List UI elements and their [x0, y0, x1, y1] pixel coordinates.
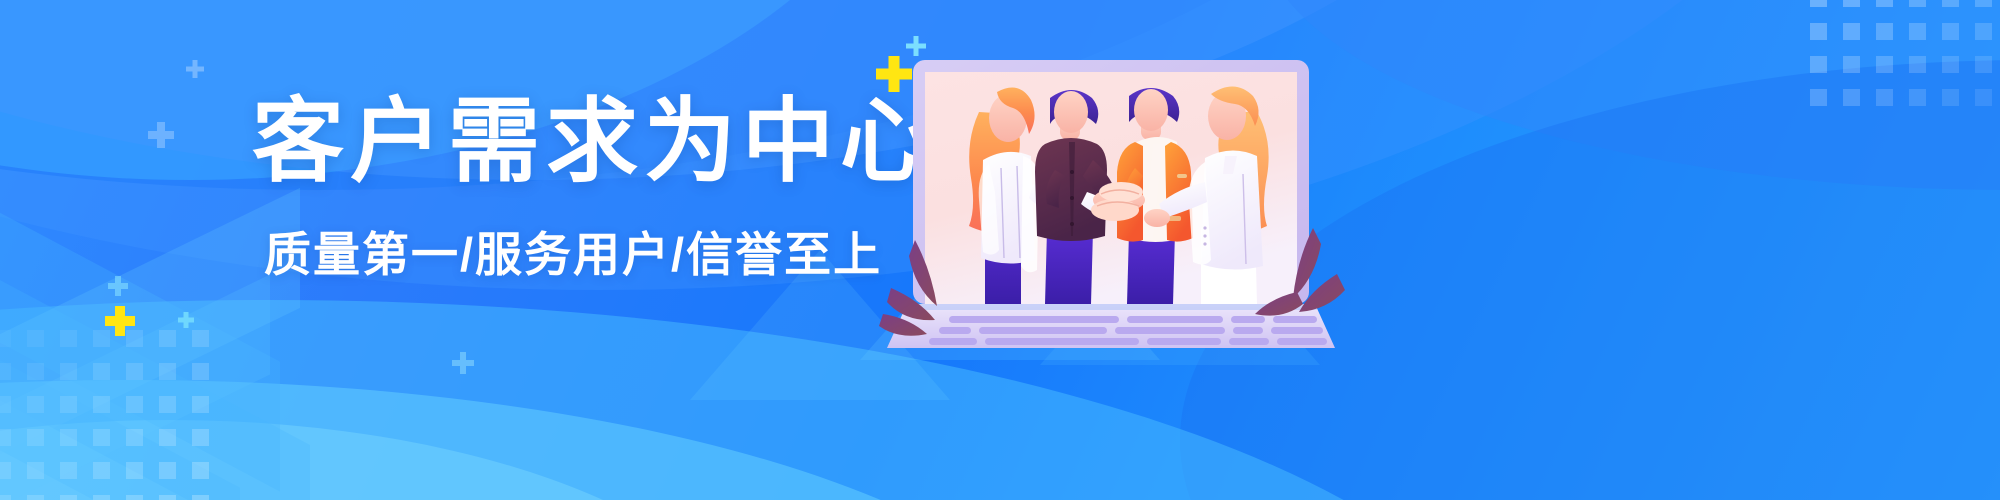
grid-square: [126, 429, 143, 446]
grid-square: [0, 495, 11, 500]
grid-square: [60, 363, 77, 380]
grid-square: [126, 396, 143, 413]
grid-square: [1942, 0, 1959, 7]
grid-square: [159, 495, 176, 500]
grid-square: [126, 495, 143, 500]
grid-square: [60, 495, 77, 500]
grid-square: [1876, 23, 1893, 40]
grid-square: [93, 429, 110, 446]
grid-square: [1942, 56, 1959, 73]
grid-square: [192, 462, 209, 479]
plus-icon: [452, 352, 474, 374]
grid-square: [1909, 0, 1926, 7]
grid-square: [159, 396, 176, 413]
grid-square: [0, 363, 11, 380]
grid-square: [60, 330, 77, 347]
grid-square: [1843, 23, 1860, 40]
banner-text-block: 客户需求为中心 质量第一/服务用户/信誉至上: [252, 96, 952, 285]
laptop-teamwork-illustration: [905, 52, 1335, 352]
grid-square: [60, 396, 77, 413]
plus-icon: [108, 276, 128, 296]
grid-square: [0, 429, 11, 446]
grid-square: [192, 330, 209, 347]
grid-square: [1975, 89, 1992, 106]
grid-square: [1810, 89, 1827, 106]
grid-square: [1810, 0, 1827, 7]
plus-icon: [105, 306, 135, 336]
grid-square: [0, 462, 11, 479]
grid-square: [1975, 56, 1992, 73]
grid-square: [27, 495, 44, 500]
grid-square: [1975, 0, 1992, 7]
grid-square: [93, 396, 110, 413]
promotional-banner: 客户需求为中心 质量第一/服务用户/信誉至上: [0, 0, 2000, 500]
grid-square: [1876, 89, 1893, 106]
grid-square: [192, 396, 209, 413]
grid-square: [1942, 23, 1959, 40]
grid-square: [1975, 23, 1992, 40]
grid-square: [1909, 56, 1926, 73]
grid-square: [1876, 0, 1893, 7]
grid-square: [27, 462, 44, 479]
grid-square: [1909, 23, 1926, 40]
grid-square: [1942, 89, 1959, 106]
plus-icon: [186, 60, 204, 78]
grid-square: [27, 330, 44, 347]
grid-square: [192, 429, 209, 446]
grid-square: [159, 429, 176, 446]
banner-headline: 客户需求为中心: [252, 96, 952, 190]
grid-square: [159, 363, 176, 380]
grid-square: [159, 330, 176, 347]
grid-square: [93, 363, 110, 380]
banner-subtitle: 质量第一/服务用户/信誉至上: [264, 216, 952, 285]
grid-square: [1810, 23, 1827, 40]
grid-square: [192, 363, 209, 380]
square-grid-pattern-top-right: [1810, 0, 2000, 120]
square-grid-pattern-bottom-left: [0, 330, 234, 500]
grid-square: [1843, 56, 1860, 73]
grid-square: [126, 462, 143, 479]
plus-icon: [148, 122, 174, 148]
grid-square: [1909, 89, 1926, 106]
grid-square: [192, 495, 209, 500]
grid-square: [93, 495, 110, 500]
grid-square: [0, 330, 11, 347]
grid-square: [1843, 89, 1860, 106]
plus-icon: [178, 312, 194, 328]
grid-square: [159, 462, 176, 479]
grid-square: [1876, 56, 1893, 73]
grid-square: [126, 363, 143, 380]
grid-square: [1810, 56, 1827, 73]
grid-square: [0, 396, 11, 413]
grid-square: [27, 363, 44, 380]
grid-square: [27, 429, 44, 446]
grid-square: [1843, 0, 1860, 7]
grid-square: [93, 462, 110, 479]
grid-square: [60, 462, 77, 479]
grid-square: [27, 396, 44, 413]
grid-square: [60, 429, 77, 446]
